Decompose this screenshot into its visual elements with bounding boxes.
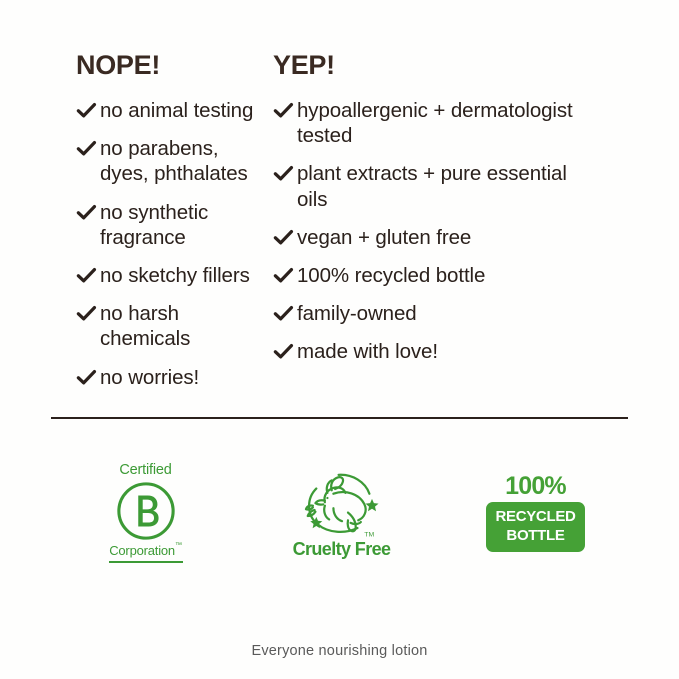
checkmark-icon — [273, 100, 294, 124]
list-item-label: no worries! — [100, 365, 199, 390]
cruelty-free-badge: TM Cruelty Free — [287, 468, 397, 558]
list-item: no synthetic fragrance — [76, 200, 265, 250]
recycled-line-1: RECYCLED — [495, 508, 575, 526]
product-caption: Everyone nourishing lotion — [0, 643, 679, 659]
recycled-label-box: RECYCLED BOTTLE — [486, 502, 584, 552]
list-item-label: 100% recycled bottle — [297, 263, 485, 288]
checkmark-icon — [76, 202, 97, 226]
yep-list: hypoallergenic + dermatologist tested pl… — [273, 98, 595, 365]
list-item: no sketchy fillers — [76, 263, 265, 288]
yep-column: YEP! hypoallergenic + dermatologist test… — [265, 52, 595, 378]
list-item-label: family-owned — [297, 301, 417, 326]
b-corp-certified-label: Certified — [119, 463, 171, 478]
checkmark-icon — [273, 303, 294, 327]
nope-list: no animal testing no parabens, dyes, pht… — [76, 98, 265, 390]
b-corp-corporation-label: Corporation™ — [109, 544, 182, 558]
checkmark-icon — [273, 163, 294, 187]
list-item: family-owned — [273, 301, 595, 326]
list-item: no parabens, dyes, phthalates — [76, 136, 265, 186]
claims-columns: NOPE! no animal testing — [0, 52, 679, 403]
list-item-label: no parabens, dyes, phthalates — [100, 136, 265, 186]
checkmark-icon — [273, 341, 294, 365]
list-item: no animal testing — [76, 98, 265, 123]
b-corp-corporation-text: Corporation — [109, 543, 175, 558]
list-item-label: made with love! — [297, 339, 438, 364]
cruelty-free-label: Cruelty Free — [293, 540, 391, 558]
recycled-line-2: BOTTLE — [495, 527, 575, 545]
b-corp-circle-icon — [115, 480, 177, 542]
checkmark-icon — [76, 265, 97, 289]
list-item: no worries! — [76, 365, 265, 390]
list-item: made with love! — [273, 339, 595, 364]
certification-badges: Certified Corporation™ — [51, 448, 628, 578]
checkmark-icon — [76, 367, 97, 391]
recycled-percent-label: 100% — [505, 474, 566, 499]
list-item: 100% recycled bottle — [273, 263, 595, 288]
list-item-label: no animal testing — [100, 98, 253, 123]
yep-heading: YEP! — [273, 52, 595, 79]
section-divider — [51, 417, 628, 419]
list-item: vegan + gluten free — [273, 225, 595, 250]
b-corp-underline — [109, 561, 183, 564]
nope-heading: NOPE! — [76, 52, 265, 79]
list-item-label: vegan + gluten free — [297, 225, 471, 250]
nope-column: NOPE! no animal testing — [0, 52, 265, 403]
b-corp-bottom-group: Corporation™ — [109, 544, 183, 563]
cruelty-free-trademark: TM — [364, 532, 374, 539]
recycled-bottle-badge: 100% RECYCLED BOTTLE — [490, 474, 582, 552]
list-item: no harsh chemicals — [76, 301, 265, 351]
checkmark-icon — [76, 138, 97, 162]
b-corp-badge: Certified Corporation™ — [98, 463, 194, 563]
list-item-label: plant extracts + pure essential oils — [297, 161, 595, 211]
list-item-label: no sketchy fillers — [100, 263, 250, 288]
product-claims-panel: NOPE! no animal testing — [0, 0, 679, 679]
list-item: hypoallergenic + dermatologist tested — [273, 98, 595, 148]
list-item-label: no harsh chemicals — [100, 301, 265, 351]
list-item-label: no synthetic fragrance — [100, 200, 265, 250]
checkmark-icon — [76, 100, 97, 124]
list-item-label: hypoallergenic + dermatologist tested — [297, 98, 595, 148]
list-item: plant extracts + pure essential oils — [273, 161, 595, 211]
leaping-bunny-icon: TM — [299, 468, 385, 538]
checkmark-icon — [273, 265, 294, 289]
checkmark-icon — [76, 303, 97, 327]
checkmark-icon — [273, 227, 294, 251]
trademark-icon: ™ — [175, 542, 182, 549]
